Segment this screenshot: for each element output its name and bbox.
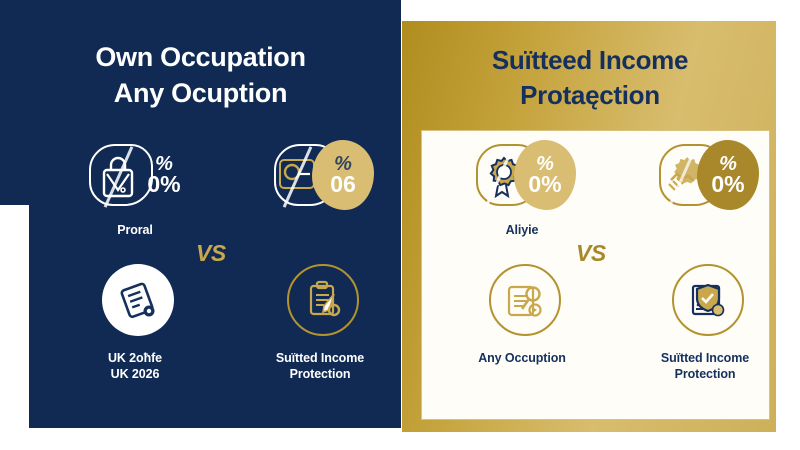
right-cell-4-art bbox=[645, 262, 765, 346]
right-cell-4-label-line-1: Suïtted Income bbox=[630, 350, 780, 366]
left-title-line-1: Own Occupation bbox=[10, 40, 391, 76]
left-cell-4[interactable]: Suïtted Income Protection bbox=[245, 262, 395, 383]
badge-bottom: 06 bbox=[330, 174, 356, 195]
badge-bottom: 0% bbox=[147, 174, 180, 195]
left-cell-3[interactable]: UK 2oħfe UK 2026 bbox=[60, 262, 210, 383]
left-panel-notch bbox=[0, 205, 29, 450]
icon-circle bbox=[489, 264, 561, 336]
right-cell-4-label: Suïtted Income Protection bbox=[630, 350, 780, 383]
infographic-canvas: Own Occupation Any Ocuption % 0% Proral bbox=[0, 0, 800, 450]
right-cell-2[interactable]: % 0% bbox=[630, 138, 780, 222]
left-cell-1-label: Proral bbox=[60, 222, 210, 238]
right-title-line-1: Suïtteed Income bbox=[412, 43, 768, 78]
left-cell-3-label: UK 2oħfe UK 2026 bbox=[60, 350, 210, 383]
left-cell-1-art: % 0% bbox=[75, 138, 195, 222]
percent-badge: % 0% bbox=[133, 140, 195, 210]
right-title-line-2: Protaęction bbox=[412, 78, 768, 113]
left-cell-4-label-line-1: Suïtted Income bbox=[245, 350, 395, 366]
left-cell-3-art bbox=[75, 262, 195, 346]
right-cell-4[interactable]: Suïtted Income Protection bbox=[630, 262, 780, 383]
right-cell-4-label-line-2: Protection bbox=[630, 366, 780, 382]
left-cell-2-art: % 06 bbox=[260, 138, 380, 222]
left-cell-3-label-line-2: UK 2026 bbox=[60, 366, 210, 382]
left-title-line-2: Any Ocuption bbox=[10, 76, 391, 112]
right-cell-3-art bbox=[462, 262, 582, 346]
right-cell-3-label-line-1: Any Occuption bbox=[447, 350, 597, 366]
right-cell-3-label: Any Occuption bbox=[447, 350, 597, 366]
right-cell-3[interactable]: Any Occuption bbox=[447, 262, 597, 366]
percent-badge: % 0% bbox=[697, 140, 759, 210]
left-panel-title: Own Occupation Any Ocuption bbox=[10, 40, 391, 111]
badge-bottom: 0% bbox=[711, 174, 744, 195]
clipboard-pen-icon bbox=[301, 278, 345, 322]
badge-top: % bbox=[334, 155, 352, 173]
left-cell-2[interactable]: % 06 bbox=[245, 138, 395, 222]
right-cell-2-art: % 0% bbox=[645, 138, 765, 222]
right-cell-1-art: % 0% bbox=[462, 138, 582, 222]
right-cell-1-label: Aliуie bbox=[447, 222, 597, 238]
right-cell-1[interactable]: % 0% Aliуie bbox=[447, 138, 597, 238]
badge-bottom: 0% bbox=[528, 174, 561, 195]
left-cell-4-label-line-2: Protection bbox=[245, 366, 395, 382]
percent-badge: % 06 bbox=[312, 140, 374, 210]
right-panel-title: Suïtteed Income Protaęction bbox=[412, 43, 768, 113]
left-cell-3-label-line-1: UK 2oħfe bbox=[60, 350, 210, 366]
shield-document-icon bbox=[686, 278, 730, 322]
document-search-icon bbox=[116, 278, 160, 322]
left-cell-4-label: Suïtted Income Protection bbox=[245, 350, 395, 383]
document-magnifier-icon bbox=[503, 278, 547, 322]
icon-circle bbox=[672, 264, 744, 336]
icon-circle bbox=[287, 264, 359, 336]
percent-badge: % 0% bbox=[514, 140, 576, 210]
icon-circle bbox=[102, 264, 174, 336]
left-cell-1[interactable]: % 0% Proral bbox=[60, 138, 210, 238]
left-cell-4-art bbox=[260, 262, 380, 346]
